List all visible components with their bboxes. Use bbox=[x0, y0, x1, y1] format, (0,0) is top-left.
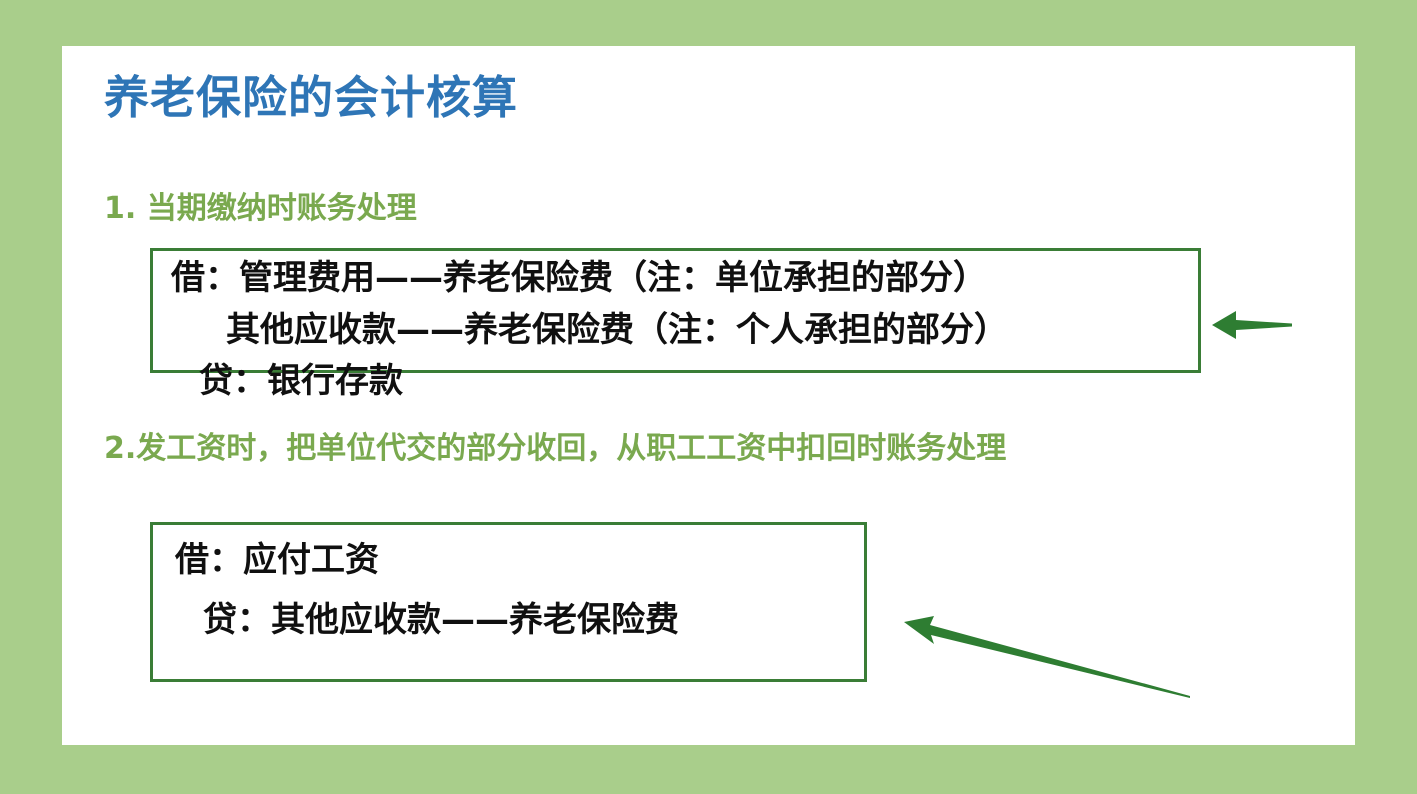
page-title: 养老保险的会计核算 bbox=[104, 73, 518, 123]
journal-entry-box-1: 借：管理费用——养老保险费（注：单位承担的部分） 其他应收款——养老保险费（注：… bbox=[150, 248, 1201, 373]
journal-entry-line: 借：应付工资 bbox=[175, 543, 379, 577]
journal-entry-box-2: 借：应付工资 贷：其他应收款——养老保险费 bbox=[150, 522, 867, 682]
bullet-text-2: 发工资时，把单位代交的部分收回，从职工工资中扣回时账务处理 bbox=[136, 431, 1006, 466]
journal-entry-line: 其他应收款——养老保险费（注：个人承担的部分） bbox=[226, 313, 1008, 347]
slide-canvas: 养老保险的会计核算 1. 当期缴纳时账务处理 借：管理费用——养老保险费（注：单… bbox=[0, 0, 1417, 794]
arrow-upleft-icon bbox=[900, 610, 1190, 700]
bullet-item-1: 1. 当期缴纳时账务处理 bbox=[104, 189, 417, 229]
journal-entry-line: 借：管理费用——养老保险费（注：单位承担的部分） bbox=[171, 261, 987, 295]
journal-entry-line: 贷：银行存款 bbox=[199, 364, 403, 398]
arrow-left-icon bbox=[1212, 305, 1292, 345]
journal-entry-line: 贷：其他应收款——养老保险费 bbox=[203, 603, 679, 637]
bullet-number-1: 1. bbox=[104, 191, 136, 226]
bullet-text-1: 当期缴纳时账务处理 bbox=[147, 191, 417, 226]
bullet-item-2: 2.发工资时，把单位代交的部分收回，从职工工资中扣回时账务处理 bbox=[104, 429, 1344, 469]
bullet-number-2: 2. bbox=[104, 431, 136, 466]
